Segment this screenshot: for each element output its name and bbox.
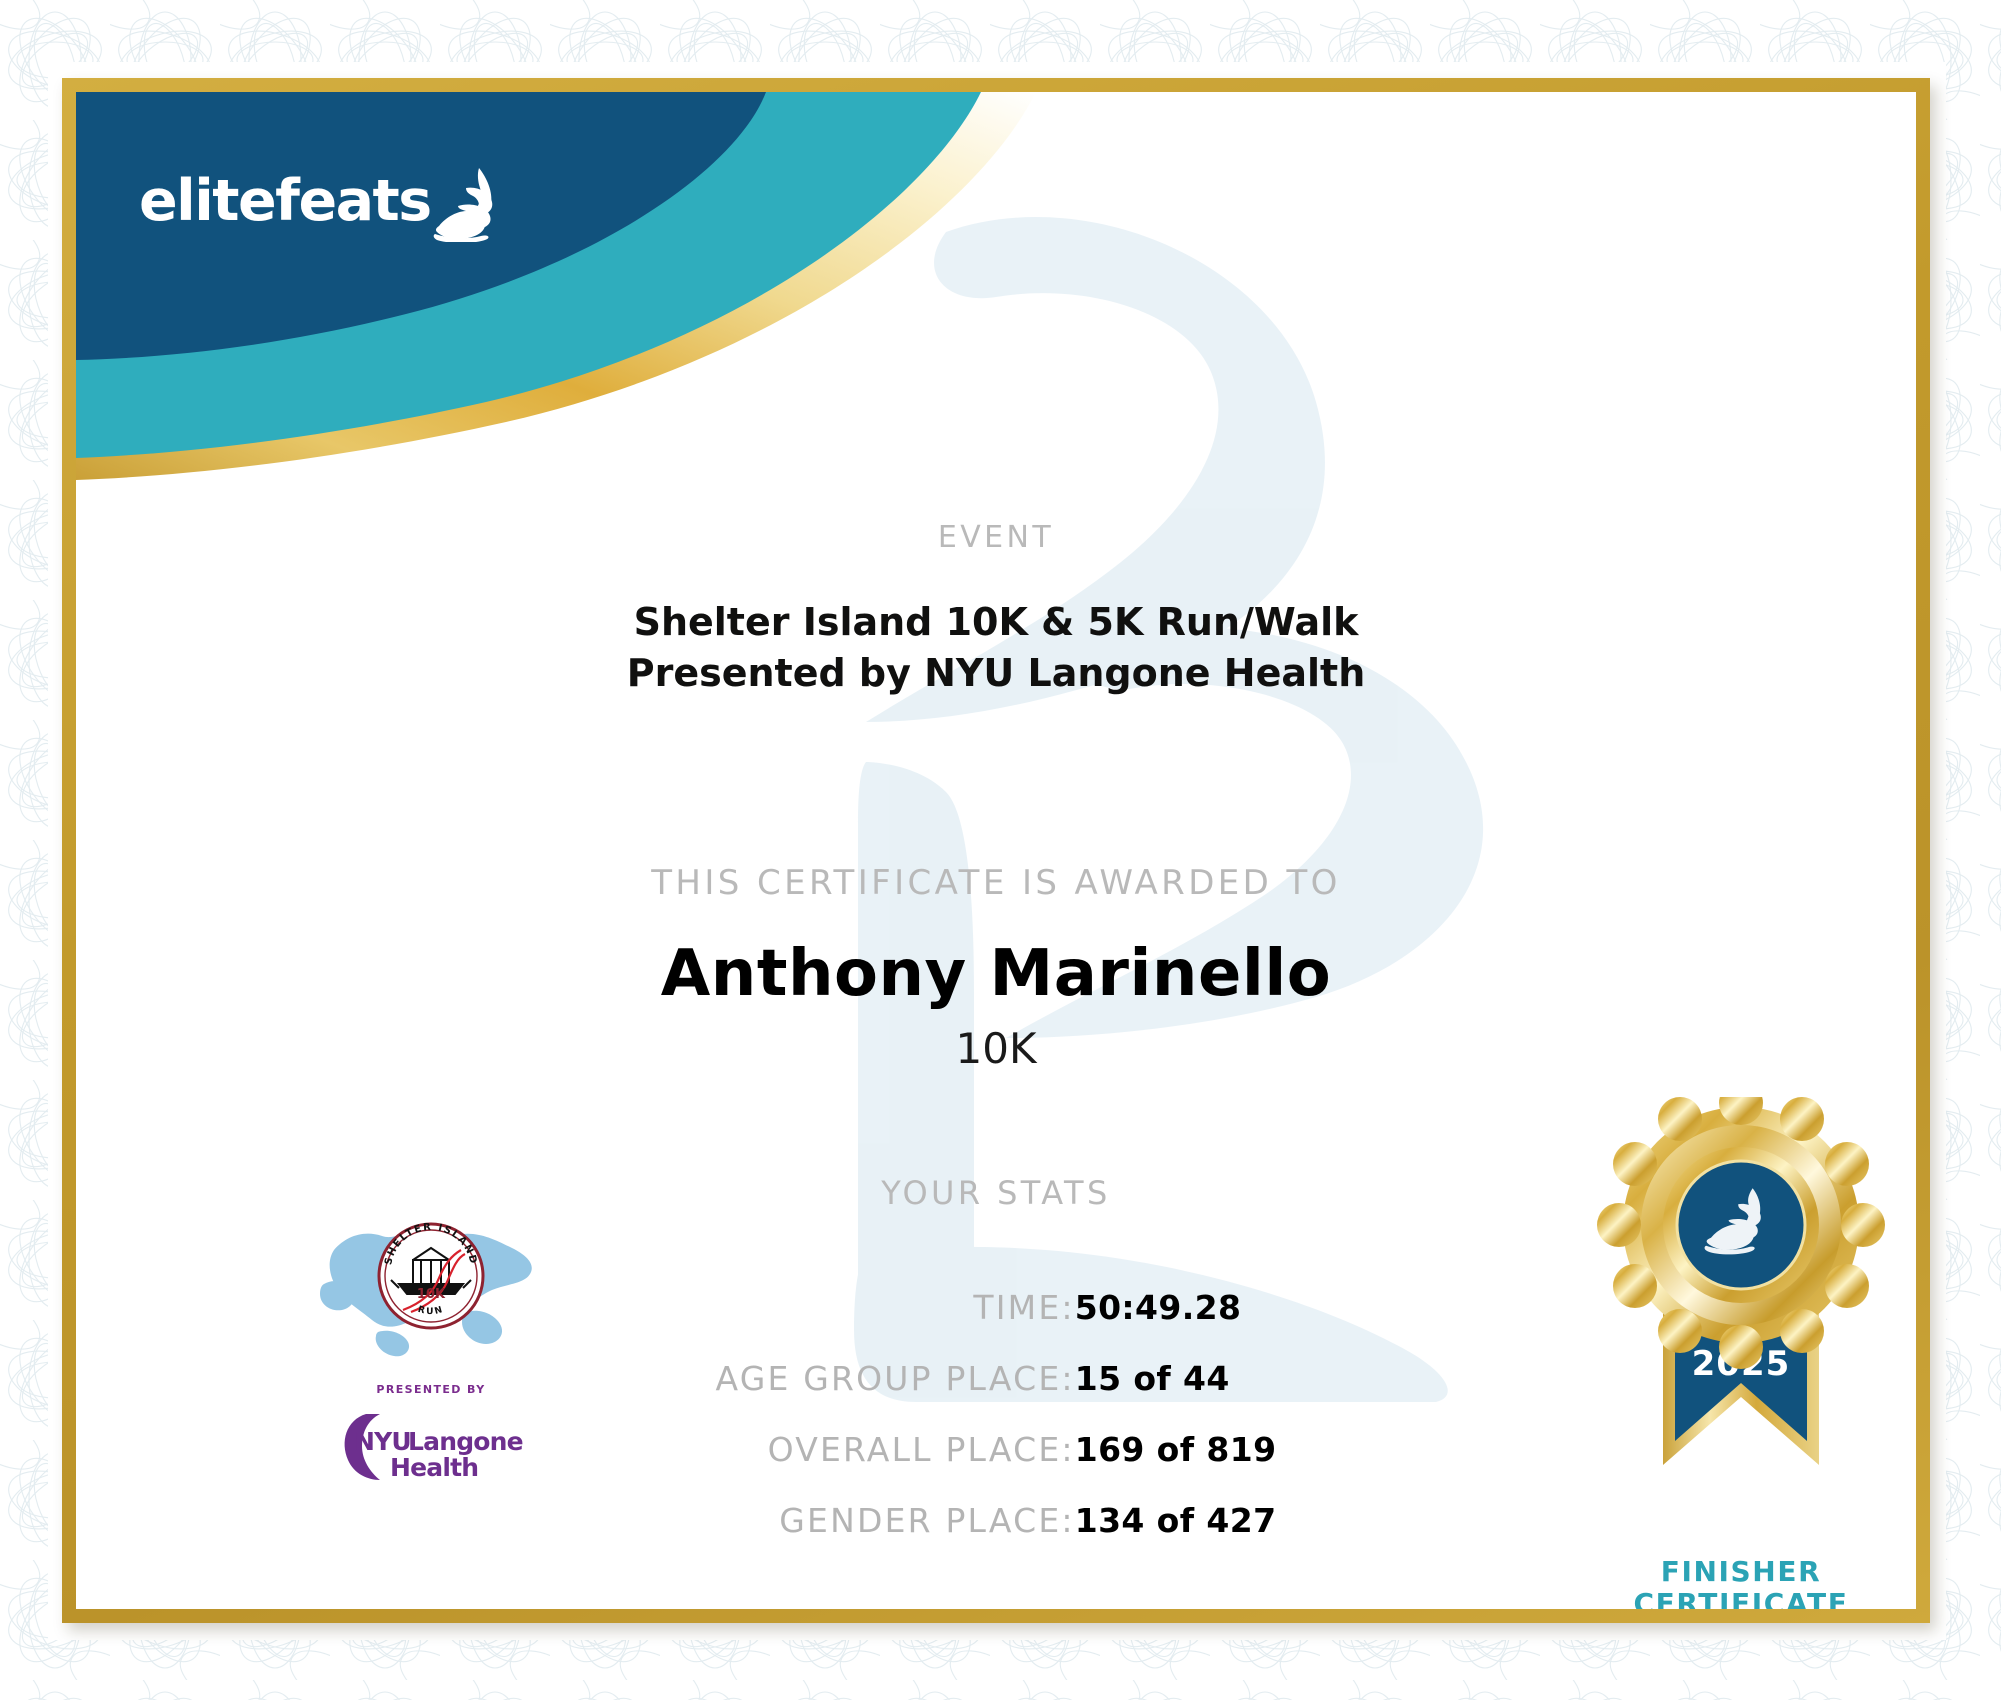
certificate-card: elitefeats EVENT Shelter Island 10K & 5K… — [76, 92, 1916, 1609]
svg-text:NYU: NYU — [354, 1427, 411, 1456]
sponsor-logos: SHELTER ISLAND 10K RUN PRESENTED BY NY — [301, 1192, 561, 1486]
finisher-caption-line-1: FINISHER — [1581, 1556, 1901, 1588]
presented-by-label: PRESENTED BY — [301, 1383, 561, 1396]
finisher-medal-badge: 2025 — [1581, 1097, 1901, 1609]
stat-value-overall-place: 169 of 819 — [1075, 1414, 1277, 1485]
event-name-line-1: Shelter Island 10K & 5K Run/Walk — [76, 597, 1916, 648]
event-label: EVENT — [76, 520, 1916, 555]
awarded-to-label: THIS CERTIFICATE IS AWARDED TO — [76, 863, 1916, 903]
nyu-langone-health-logo: NYU Langone Health — [336, 1404, 526, 1486]
stat-label-age-group-place: AGE GROUP PLACE: — [716, 1343, 1075, 1414]
stat-label-gender-place: GENDER PLACE: — [716, 1485, 1075, 1556]
event-distance: 10K — [76, 1024, 1916, 1073]
svg-text:Langone: Langone — [408, 1427, 523, 1456]
finisher-caption-line-2: CERTIFICATE — [1581, 1588, 1901, 1609]
stat-label-time: TIME: — [716, 1272, 1075, 1343]
stat-label-overall-place: OVERALL PLACE: — [716, 1414, 1075, 1485]
svg-text:Health: Health — [390, 1453, 478, 1482]
shelter-island-10k-run-logo: SHELTER ISLAND 10K RUN — [316, 1192, 546, 1377]
table-row: TIME: 50:49.28 — [716, 1272, 1277, 1343]
stats-table: TIME: 50:49.28 AGE GROUP PLACE: 15 of 44… — [716, 1272, 1277, 1556]
stat-value-time: 50:49.28 — [1075, 1272, 1277, 1343]
svg-text:10K: 10K — [417, 1287, 446, 1302]
medal-disc — [1597, 1097, 1885, 1369]
event-name-line-2: Presented by NYU Langone Health — [76, 648, 1916, 699]
event-name: Shelter Island 10K & 5K Run/Walk Present… — [76, 597, 1916, 698]
gold-border-frame: elitefeats EVENT Shelter Island 10K & 5K… — [62, 78, 1930, 1623]
finisher-certificate-caption: FINISHER CERTIFICATE — [1581, 1556, 1901, 1609]
table-row: AGE GROUP PLACE: 15 of 44 — [716, 1343, 1277, 1414]
stat-value-gender-place: 134 of 427 — [1075, 1485, 1277, 1556]
stat-value-age-group-place: 15 of 44 — [1075, 1343, 1277, 1414]
table-row: OVERALL PLACE: 169 of 819 — [716, 1414, 1277, 1485]
certificate-page: elitefeats EVENT Shelter Island 10K & 5K… — [0, 0, 2001, 1700]
recipient-name: Anthony Marinello — [76, 937, 1916, 1011]
medal-graphic: 2025 — [1591, 1097, 1891, 1562]
table-row: GENDER PLACE: 134 of 427 — [716, 1485, 1277, 1556]
